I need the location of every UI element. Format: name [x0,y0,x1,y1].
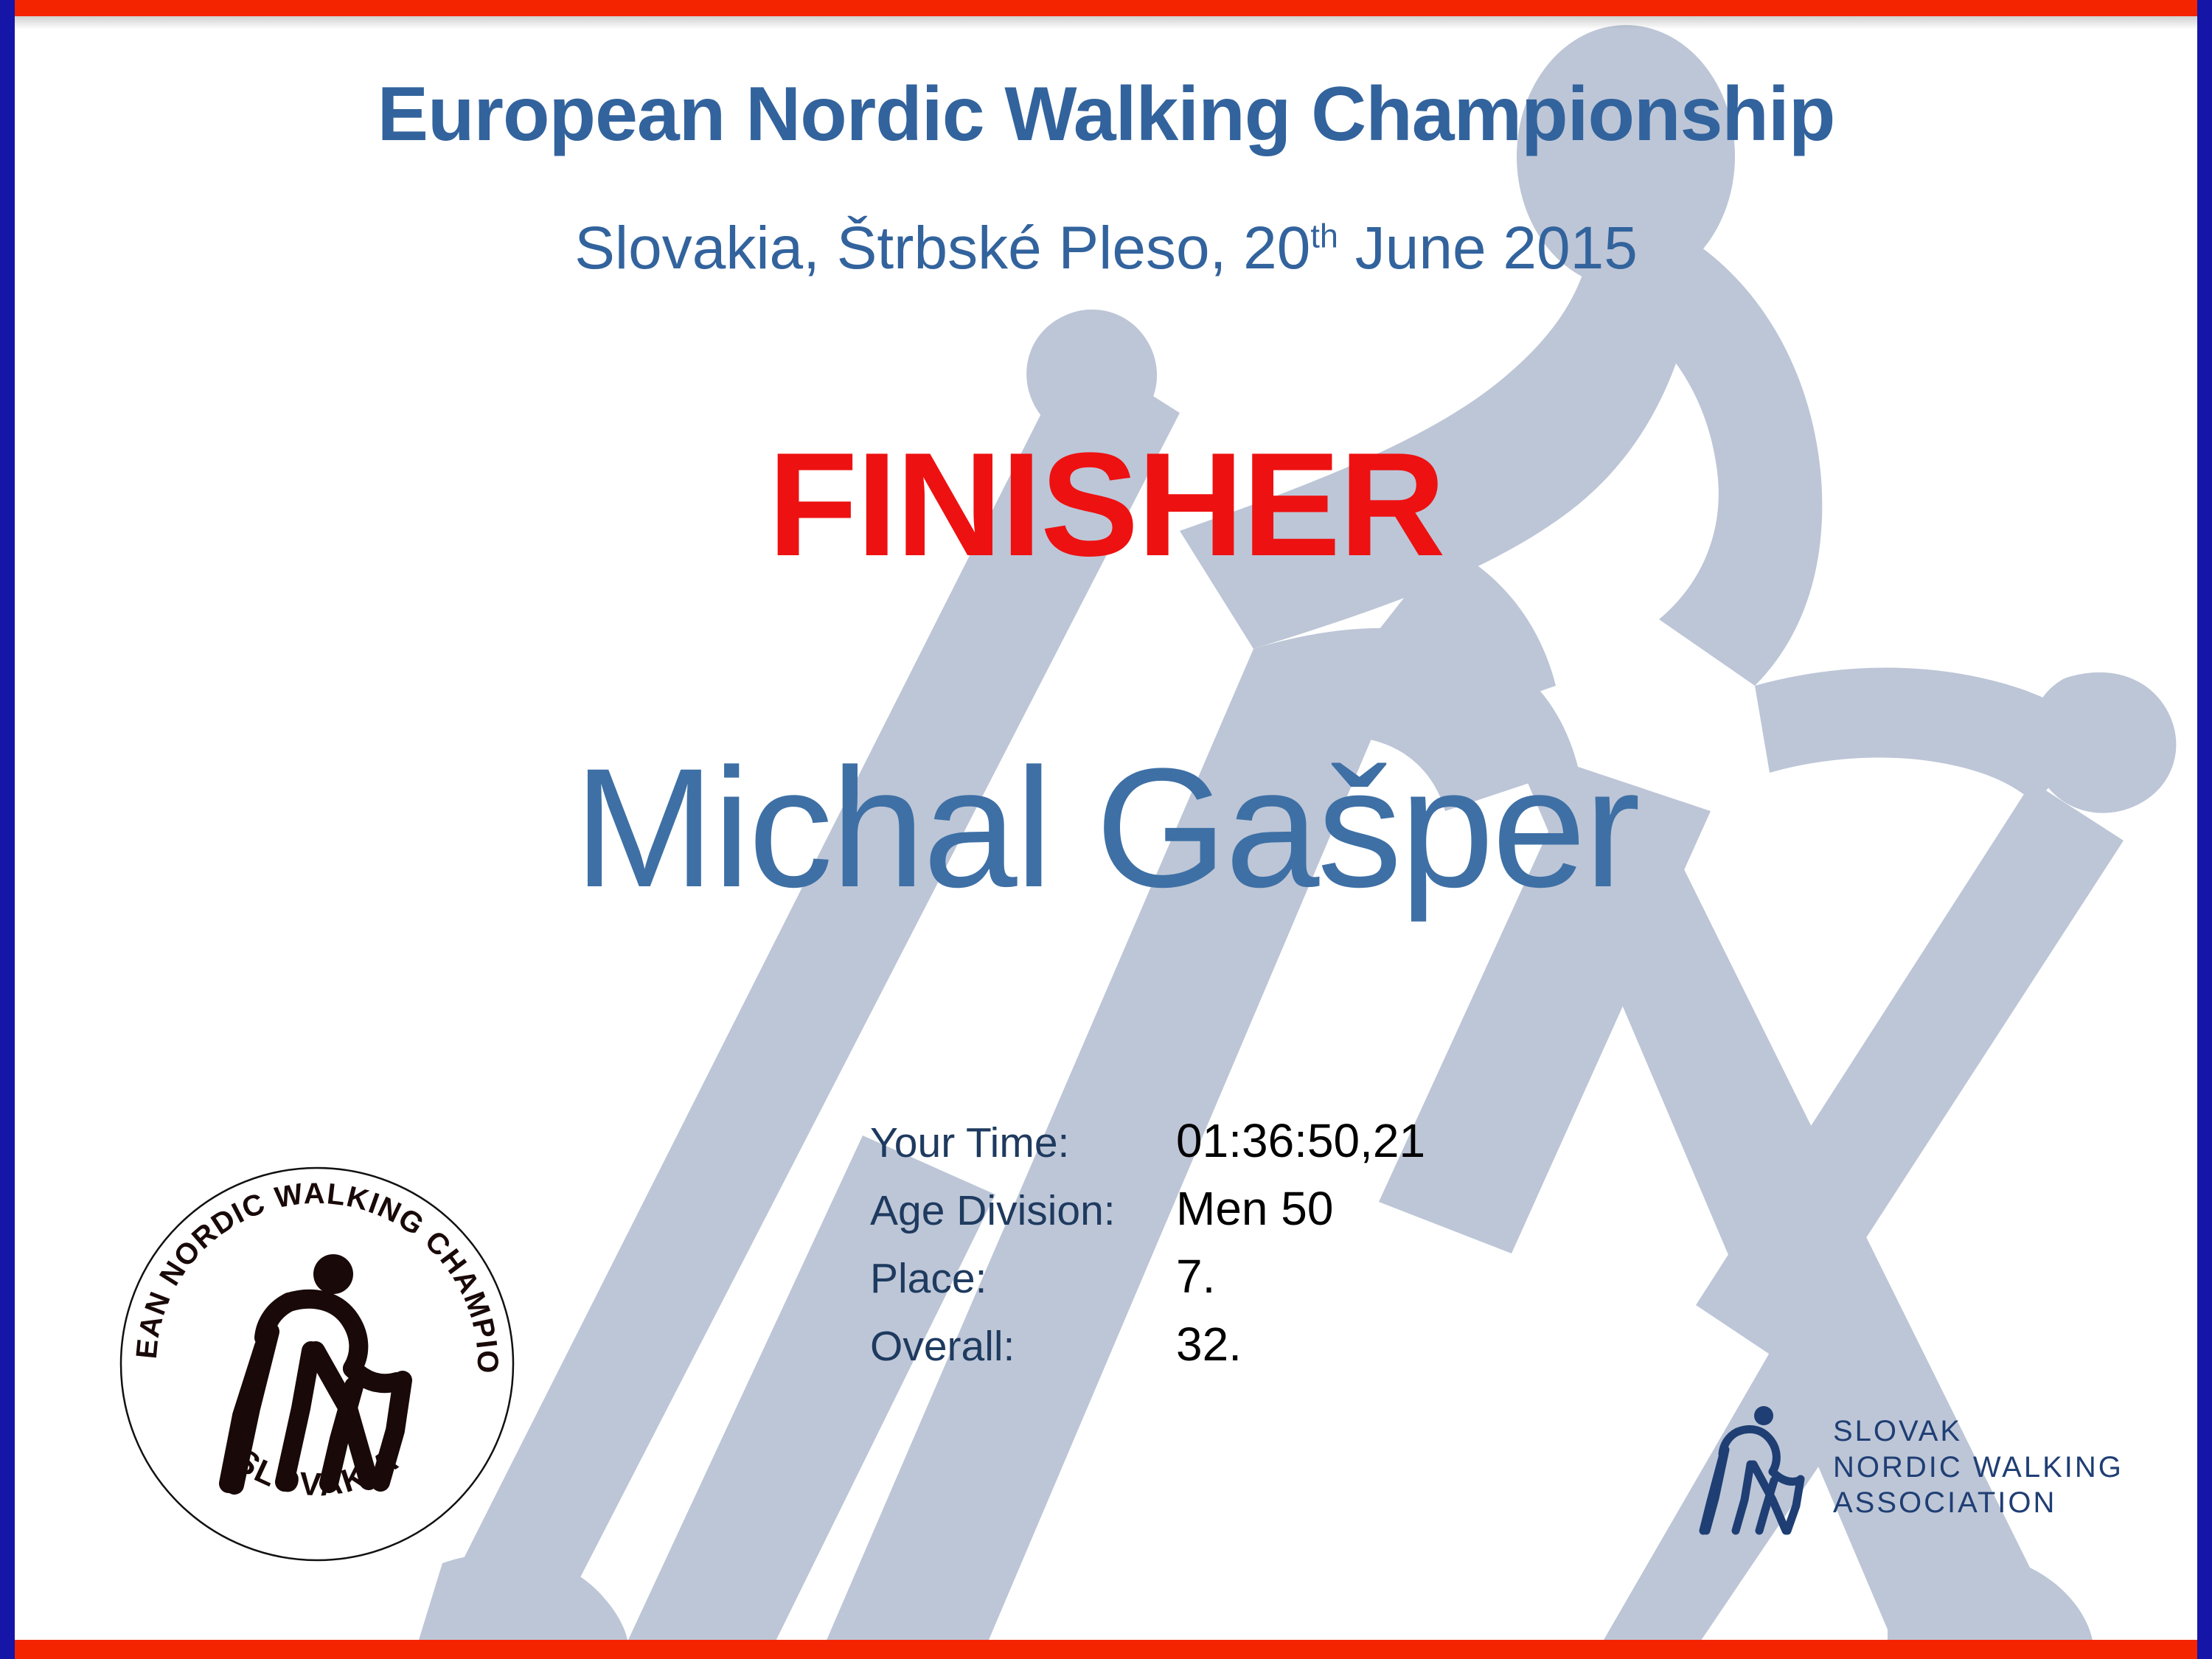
association-logo: SLOVAK NORDIC WALKING ASSOCIATION [1696,1386,2153,1548]
association-line-1: SLOVAK [1833,1413,2124,1450]
certificate-page: European Nordic Walking Championship Slo… [0,0,2212,1659]
status-badge: FINISHER [0,420,2212,590]
border-band-bottom [0,1640,2212,1659]
page-title: European Nordic Walking Championship [0,71,2212,159]
border-band-top [0,0,2212,16]
athlete-name: Michal Gašper [0,730,2212,925]
association-walker-icon [1696,1394,1814,1541]
subtitle-prefix: Slovakia, Štrbské Pleso, 20 [574,215,1310,282]
subtitle-suffix: June 2015 [1338,215,1638,282]
result-value-age-division: Men 50 [1176,1181,1425,1236]
border-band-left [0,0,15,1659]
result-label-your-time: Your Time: [870,1119,1176,1167]
result-label-overall: Overall: [870,1322,1176,1371]
event-subtitle: Slovakia, Štrbské Pleso, 20th June 2015 [0,214,2212,283]
association-line-2: NORDIC WALKING [1833,1450,2124,1486]
result-value-overall: 32. [1176,1317,1425,1371]
top-shadow [0,16,2212,29]
subtitle-ordinal: th [1310,218,1338,255]
result-value-place: 7. [1176,1249,1425,1304]
result-value-your-time: 01:36:50,21 [1176,1113,1425,1168]
border-band-right [2197,0,2212,1659]
association-line-3: ASSOCIATION [1833,1485,2124,1521]
championship-logo-head [313,1254,353,1294]
association-logo-text: SLOVAK NORDIC WALKING ASSOCIATION [1833,1413,2124,1521]
championship-logo-icon: EUROPEAN NORDIC WALKING CHAMPIONSHIP SLO… [118,1165,516,1563]
result-label-age-division: Age Division: [870,1186,1176,1235]
results-table: Your Time: 01:36:50,21 Age Division: Men… [870,1113,1425,1371]
result-label-place: Place: [870,1254,1176,1303]
